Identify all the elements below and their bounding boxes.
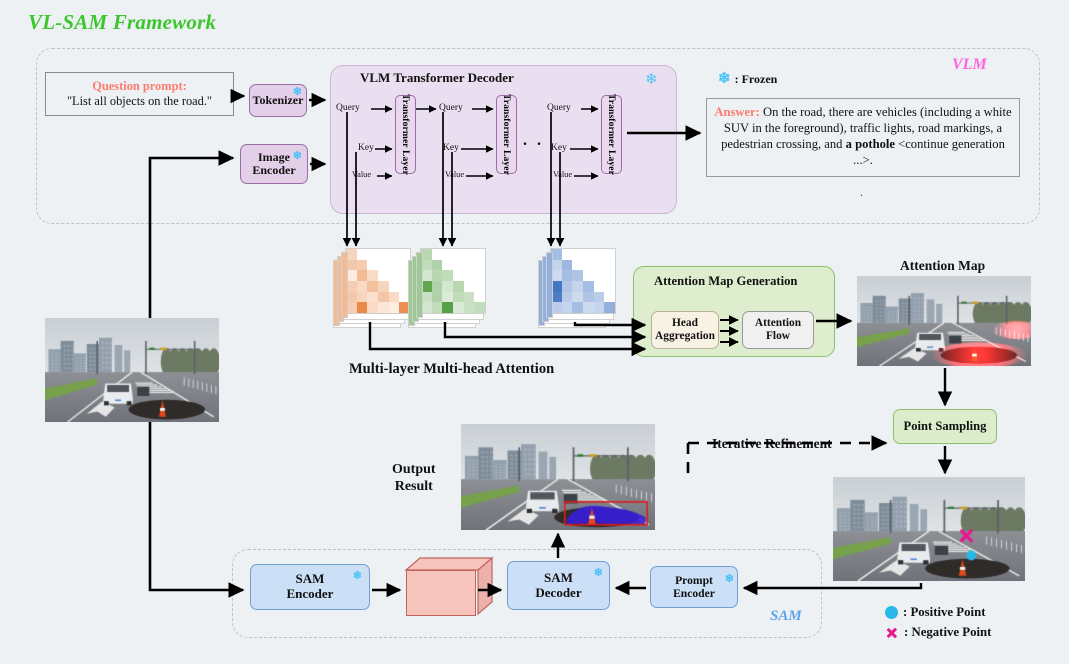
heatmap-cell [572,249,583,260]
heatmap-cell [464,292,475,303]
decoder-stage-3-value: Value [553,170,572,179]
heatmap-cell [453,292,464,303]
point-legend: : Positive Point : Negative Point [885,603,991,643]
decoder-stage-1-value: Value [352,170,371,179]
heatmap-cell [604,281,615,292]
heatmap-cell [357,260,368,271]
heatmap-cell [474,249,485,260]
heatmap-cell [464,281,475,292]
heatmap-cell [367,281,378,292]
attention-sheet-edge [546,252,553,318]
heatmap-cell [389,281,400,292]
heatmap-cell [442,270,453,281]
tokenizer-node[interactable]: Tokenizer ❄ [249,84,307,117]
attention-matrix-layer-n [538,248,616,326]
heatmap-cell [432,260,443,271]
heatmap-cell [474,281,485,292]
street-scene-canvas [461,424,655,530]
heatmap-cell [367,260,378,271]
heatmap-cell [453,260,464,271]
heatmap-cell [357,302,368,313]
answer-box: Answer: On the road, there are vehicles … [706,98,1020,177]
question-prompt-heading: Question prompt: [92,79,186,95]
heatmap-cell [594,302,605,313]
heatmap-cell [583,260,594,271]
heatmap-cell [432,292,443,303]
transformer-layer-2[interactable]: Transformer Layer [496,95,517,174]
heatmap-cell [442,292,453,303]
attention-map-image [857,276,1031,366]
transformer-layer-n-label: Transformer Layer [606,94,617,175]
heatmap-cell [604,270,615,281]
attention-sheet-edge [416,252,423,318]
heatmap-cell [583,270,594,281]
heatmap-cell [572,302,583,313]
output-result-image [461,424,655,530]
heatmap-cell [432,249,443,260]
heatmap-cell [583,249,594,260]
head-aggregation-line2: Aggregation [655,330,715,343]
decoder-stage-1-query: Query [336,103,360,113]
image-embedding-cube-3d [400,556,496,620]
prompt-encoder-line1: Prompt [673,574,715,587]
heatmap-cell [464,302,475,313]
heatmap-cell [389,249,400,260]
sam-encoder-line1: SAM [287,572,334,587]
legend-positive-row: : Positive Point [885,603,991,623]
attention-heatmap-grid [420,248,486,314]
output-result-label: Output Result [392,462,436,496]
decoder-stage-2-query: Query [439,103,463,113]
decoder-ellipsis: . . [523,132,544,150]
heatmap-cell [378,292,389,303]
input-image [45,318,219,422]
heatmap-cell [389,260,400,271]
attention-map-generation-title: Attention Map Generation [654,274,797,289]
heatmap-cell [378,270,389,281]
heatmap-cell [604,260,615,271]
vlm-transformer-decoder-title: VLM Transformer Decoder [360,70,514,86]
heatmap-cell [442,260,453,271]
iterative-refinement-label: Iterative Refinement [712,436,832,452]
sam-group-label: SAM [770,608,802,625]
transformer-layer-1[interactable]: Transformer Layer [395,95,416,174]
point-sampling-label: Point Sampling [904,419,987,433]
head-aggregation-line1: Head [655,317,715,330]
transformer-layer-2-label: Transformer Layer [501,94,512,175]
street-scene-canvas [833,477,1025,581]
heatmap-cell [464,249,475,260]
street-scene-canvas [857,276,1031,366]
snowflake-icon: ❄ [594,568,603,579]
heatmap-cell [464,260,475,271]
heatmap-cell [378,302,389,313]
heatmap-cell [562,270,573,281]
heatmap-cell [583,292,594,303]
heatmap-cell [357,281,368,292]
heatmap-cell [453,281,464,292]
image-encoder-node[interactable]: Image Encoder ❄ [240,144,308,184]
heatmap-cell [453,249,464,260]
attention-heatmap-grid [550,248,616,314]
heatmap-cell [604,249,615,260]
frozen-legend-text: : Frozen [735,72,778,87]
figure-canvas: VL-SAM Framework VLM SAM Question prompt… [0,0,1069,664]
question-prompt-text: "List all objects on the road." [67,94,212,110]
attention-flow-line2: Flow [755,330,801,343]
point-sampling-node[interactable]: Point Sampling [893,409,997,444]
heatmap-cell [389,270,400,281]
heatmap-cell [594,281,605,292]
decoder-stage-3-query: Query [547,103,571,113]
heatmap-cell [594,260,605,271]
decoder-stage-2-key: Key [443,143,459,153]
heatmap-cell [389,302,400,313]
heatmap-cell [594,249,605,260]
snowflake-icon: ❄ [725,574,734,585]
prompt-encoder-node[interactable]: Prompt Encoder ❄ [650,566,738,608]
attention-sheet-edge [341,252,348,318]
heatmap-cell [464,270,475,281]
attention-matrix-layer-2 [408,248,486,326]
legend-positive-text: : Positive Point [903,603,985,623]
heatmap-cell [604,302,615,313]
snowflake-icon: ❄ [718,72,731,87]
heatmap-cell [594,292,605,303]
sam-encoder-line2: Encoder [287,587,334,602]
attention-flow-line1: Attention [755,317,801,330]
heatmap-cell [378,281,389,292]
heatmap-cell [367,249,378,260]
heatmap-cell [378,260,389,271]
street-scene-canvas [45,318,219,422]
heatmap-cell [583,302,594,313]
heatmap-cell [562,281,573,292]
transformer-layer-n[interactable]: Transformer Layer [601,95,622,174]
output-result-line2: Result [392,479,436,496]
heatmap-cell [432,281,443,292]
heatmap-cell [442,302,453,313]
decoder-stage-3-key: Key [551,143,567,153]
heatmap-cell [389,292,400,303]
answer-trailing-dot: . [860,185,863,200]
sam-decoder-line1: SAM [535,571,581,586]
heatmap-cell [572,260,583,271]
page-title: VL-SAM Framework [28,10,216,35]
attention-heatmap-grid [345,248,411,314]
sam-decoder-node[interactable]: SAM Decoder ❄ [507,561,610,610]
heatmap-cell [572,292,583,303]
attention-caption: Multi-layer Multi-head Attention [349,361,554,378]
heatmap-cell [583,281,594,292]
answer-lead: Answer: [714,105,759,119]
heatmap-cell [442,249,453,260]
decoder-stage-1-key: Key [358,143,374,153]
heatmap-cell [453,270,464,281]
heatmap-cell [474,302,485,313]
heatmap-cell [572,281,583,292]
heatmap-cell [357,270,368,281]
heatmap-cell [442,281,453,292]
positive-point-icon [885,606,898,619]
image-encoder-label-line1: Image [252,151,295,164]
heatmap-cell [562,249,573,260]
sam-decoder-line2: Decoder [535,586,581,601]
attention-flow-node[interactable]: Attention Flow [742,311,814,349]
prompt-encoder-line2: Encoder [673,587,715,600]
question-prompt-box: Question prompt: "List all objects on th… [45,72,234,116]
negative-point-icon [885,626,899,640]
heatmap-cell [474,260,485,271]
heatmap-cell [378,249,389,260]
heatmap-cell [357,292,368,303]
legend-negative-row: : Negative Point [885,623,991,643]
heatmap-cell [432,270,443,281]
heatmap-cell [474,292,485,303]
heatmap-cell [562,260,573,271]
answer-body-bold: a pothole [846,137,895,151]
transformer-layer-1-label: Transformer Layer [400,94,411,175]
image-encoder-label-line2: Encoder [252,164,295,177]
snowflake-icon: ❄ [293,151,302,162]
heatmap-cell [453,302,464,313]
heatmap-cell [604,292,615,303]
heatmap-cell [432,302,443,313]
decoder-stage-2-value: Value [445,170,464,179]
heatmap-cell [367,302,378,313]
heatmap-cell [367,270,378,281]
snowflake-icon: ❄ [293,87,302,98]
legend-negative-text: : Negative Point [904,623,991,643]
heatmap-cell [572,270,583,281]
attention-matrix-layer-1 [333,248,411,326]
head-aggregation-node[interactable]: Head Aggregation [651,311,719,349]
heatmap-cell [474,270,485,281]
sam-encoder-node[interactable]: SAM Encoder ❄ [250,564,370,610]
vlm-group-label: VLM [952,56,987,74]
heatmap-cell [357,249,368,260]
sampled-points-image [833,477,1025,581]
heatmap-cell [594,270,605,281]
snowflake-icon: ❄ [353,571,362,582]
heatmap-cell [562,302,573,313]
attention-map-title: Attention Map [900,258,985,274]
frozen-legend: ❄ : Frozen [718,72,777,87]
heatmap-cell [367,292,378,303]
snowflake-icon: ❄ [645,73,658,88]
heatmap-cell [562,292,573,303]
output-result-line1: Output [392,462,436,479]
